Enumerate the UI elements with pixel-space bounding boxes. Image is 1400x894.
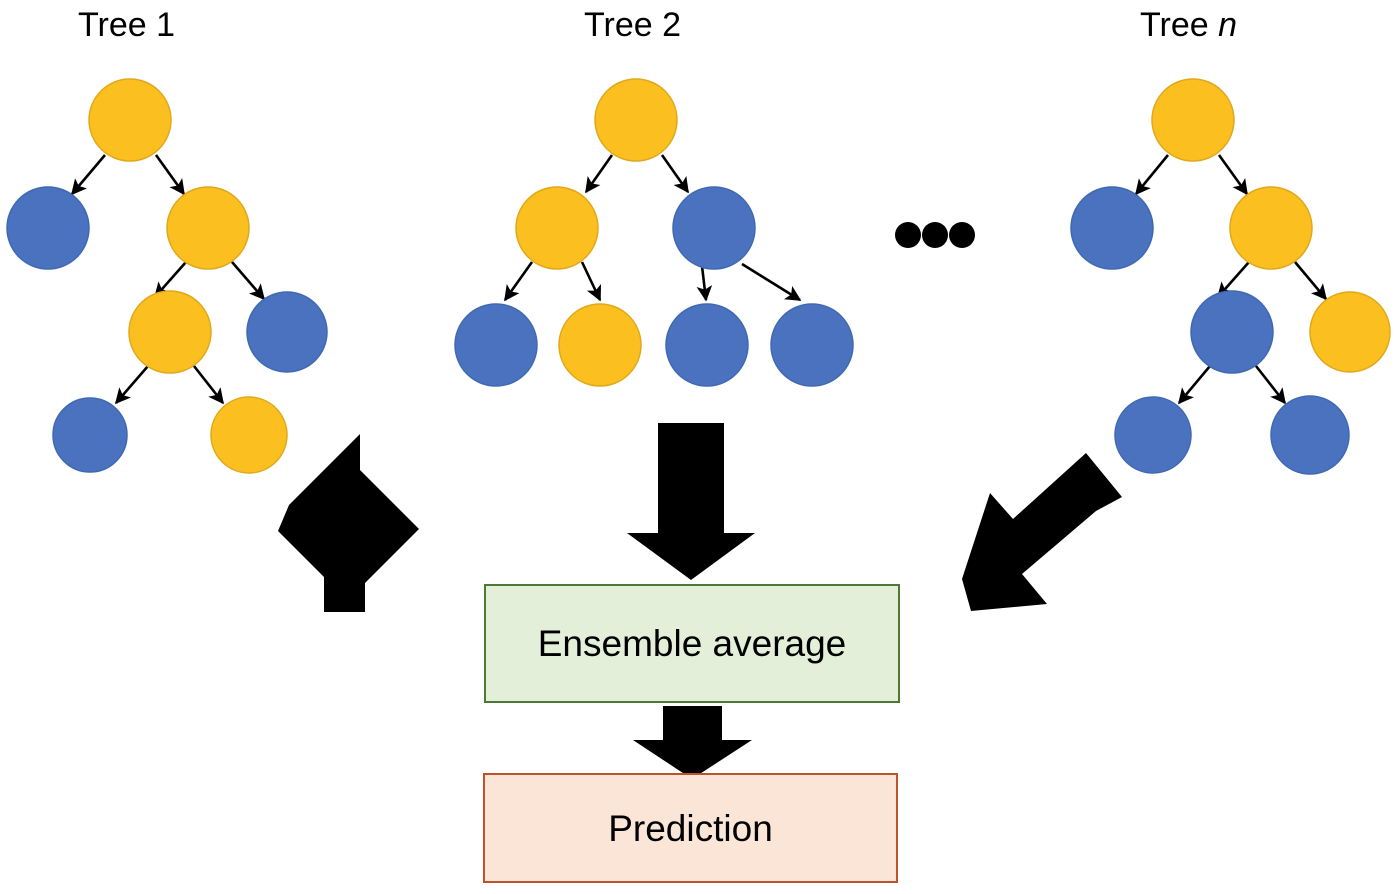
tree-1-node-l1-right[interactable] bbox=[167, 187, 249, 269]
ellipsis-dot-1 bbox=[895, 222, 921, 248]
tree-1-node-l3-left[interactable] bbox=[53, 398, 127, 472]
tree-1-node-l1-left[interactable] bbox=[7, 187, 89, 269]
tree-1-node-l2-left[interactable] bbox=[129, 291, 211, 373]
arrow-tree-1-to-ensemble bbox=[278, 434, 419, 612]
tree-1-edge-a-right bbox=[232, 262, 264, 299]
tree-2-node-l1-left[interactable] bbox=[516, 187, 598, 269]
tree-1-edge-root-right bbox=[156, 155, 184, 194]
ensemble-average-label: Ensemble average bbox=[538, 625, 847, 662]
tree-n-node-root[interactable] bbox=[1152, 79, 1234, 161]
ellipsis-dot-3 bbox=[949, 222, 975, 248]
tree-nodes-group bbox=[7, 79, 1390, 474]
tree-n-edge-a-right bbox=[1295, 262, 1326, 299]
ellipsis-dot-2 bbox=[922, 222, 948, 248]
tree-2-node-leaf-1[interactable] bbox=[455, 304, 537, 386]
tree-2-node-leaf-2[interactable] bbox=[559, 304, 641, 386]
tree-2-edge-a-right bbox=[582, 262, 600, 300]
tree-1-node-root[interactable] bbox=[89, 79, 171, 161]
tree-2-node-root[interactable] bbox=[595, 79, 677, 161]
diagram-canvas: Tree 1 Tree 2 Tree n Ensemble average Pr… bbox=[0, 0, 1400, 894]
tree-n-edge-b-left bbox=[1179, 366, 1210, 403]
tree-2-edge-b-right bbox=[742, 264, 800, 300]
tree-1-node-l2-right[interactable] bbox=[247, 292, 327, 372]
prediction-box[interactable]: Prediction bbox=[483, 773, 898, 883]
ensemble-average-box[interactable]: Ensemble average bbox=[484, 584, 900, 703]
tree-1-node-l3-right[interactable] bbox=[211, 397, 287, 473]
tree-n-edge-root-right bbox=[1219, 155, 1247, 194]
tree-n-edge-root-left bbox=[1136, 155, 1168, 194]
arrow-tree-2-to-ensemble bbox=[627, 423, 755, 580]
tree-n-node-l3-left[interactable] bbox=[1115, 397, 1191, 473]
tree-2-node-leaf-4[interactable] bbox=[771, 304, 853, 386]
tree-2-edge-b-left bbox=[702, 266, 706, 300]
tree-n-node-l2-right[interactable] bbox=[1310, 292, 1390, 372]
trees-ellipsis bbox=[895, 222, 975, 248]
tree-n-node-l1-right[interactable] bbox=[1230, 187, 1312, 269]
tree-2-edge-root-left bbox=[586, 155, 612, 192]
tree-1-edge-root-left bbox=[72, 155, 105, 194]
prediction-label: Prediction bbox=[608, 810, 773, 847]
arrow-ensemble-to-prediction bbox=[633, 706, 752, 779]
diagram-vector-layer bbox=[0, 0, 1400, 894]
tree-n-node-l1-left[interactable] bbox=[1071, 187, 1153, 269]
tree-2-node-leaf-3[interactable] bbox=[666, 304, 748, 386]
tree-n-node-l2-left[interactable] bbox=[1191, 291, 1273, 373]
tree-1-edge-b-right bbox=[194, 366, 223, 403]
tree-1-edge-b-left bbox=[116, 366, 148, 403]
tree-n-edge-b-right bbox=[1256, 366, 1285, 403]
tree-2-edge-root-right bbox=[662, 155, 688, 192]
tree-2-edge-a-left bbox=[505, 262, 532, 300]
tree-n-node-l3-right[interactable] bbox=[1271, 396, 1349, 474]
arrow-tree-n-to-ensemble bbox=[962, 453, 1122, 611]
tree-2-node-l1-right[interactable] bbox=[673, 187, 755, 269]
